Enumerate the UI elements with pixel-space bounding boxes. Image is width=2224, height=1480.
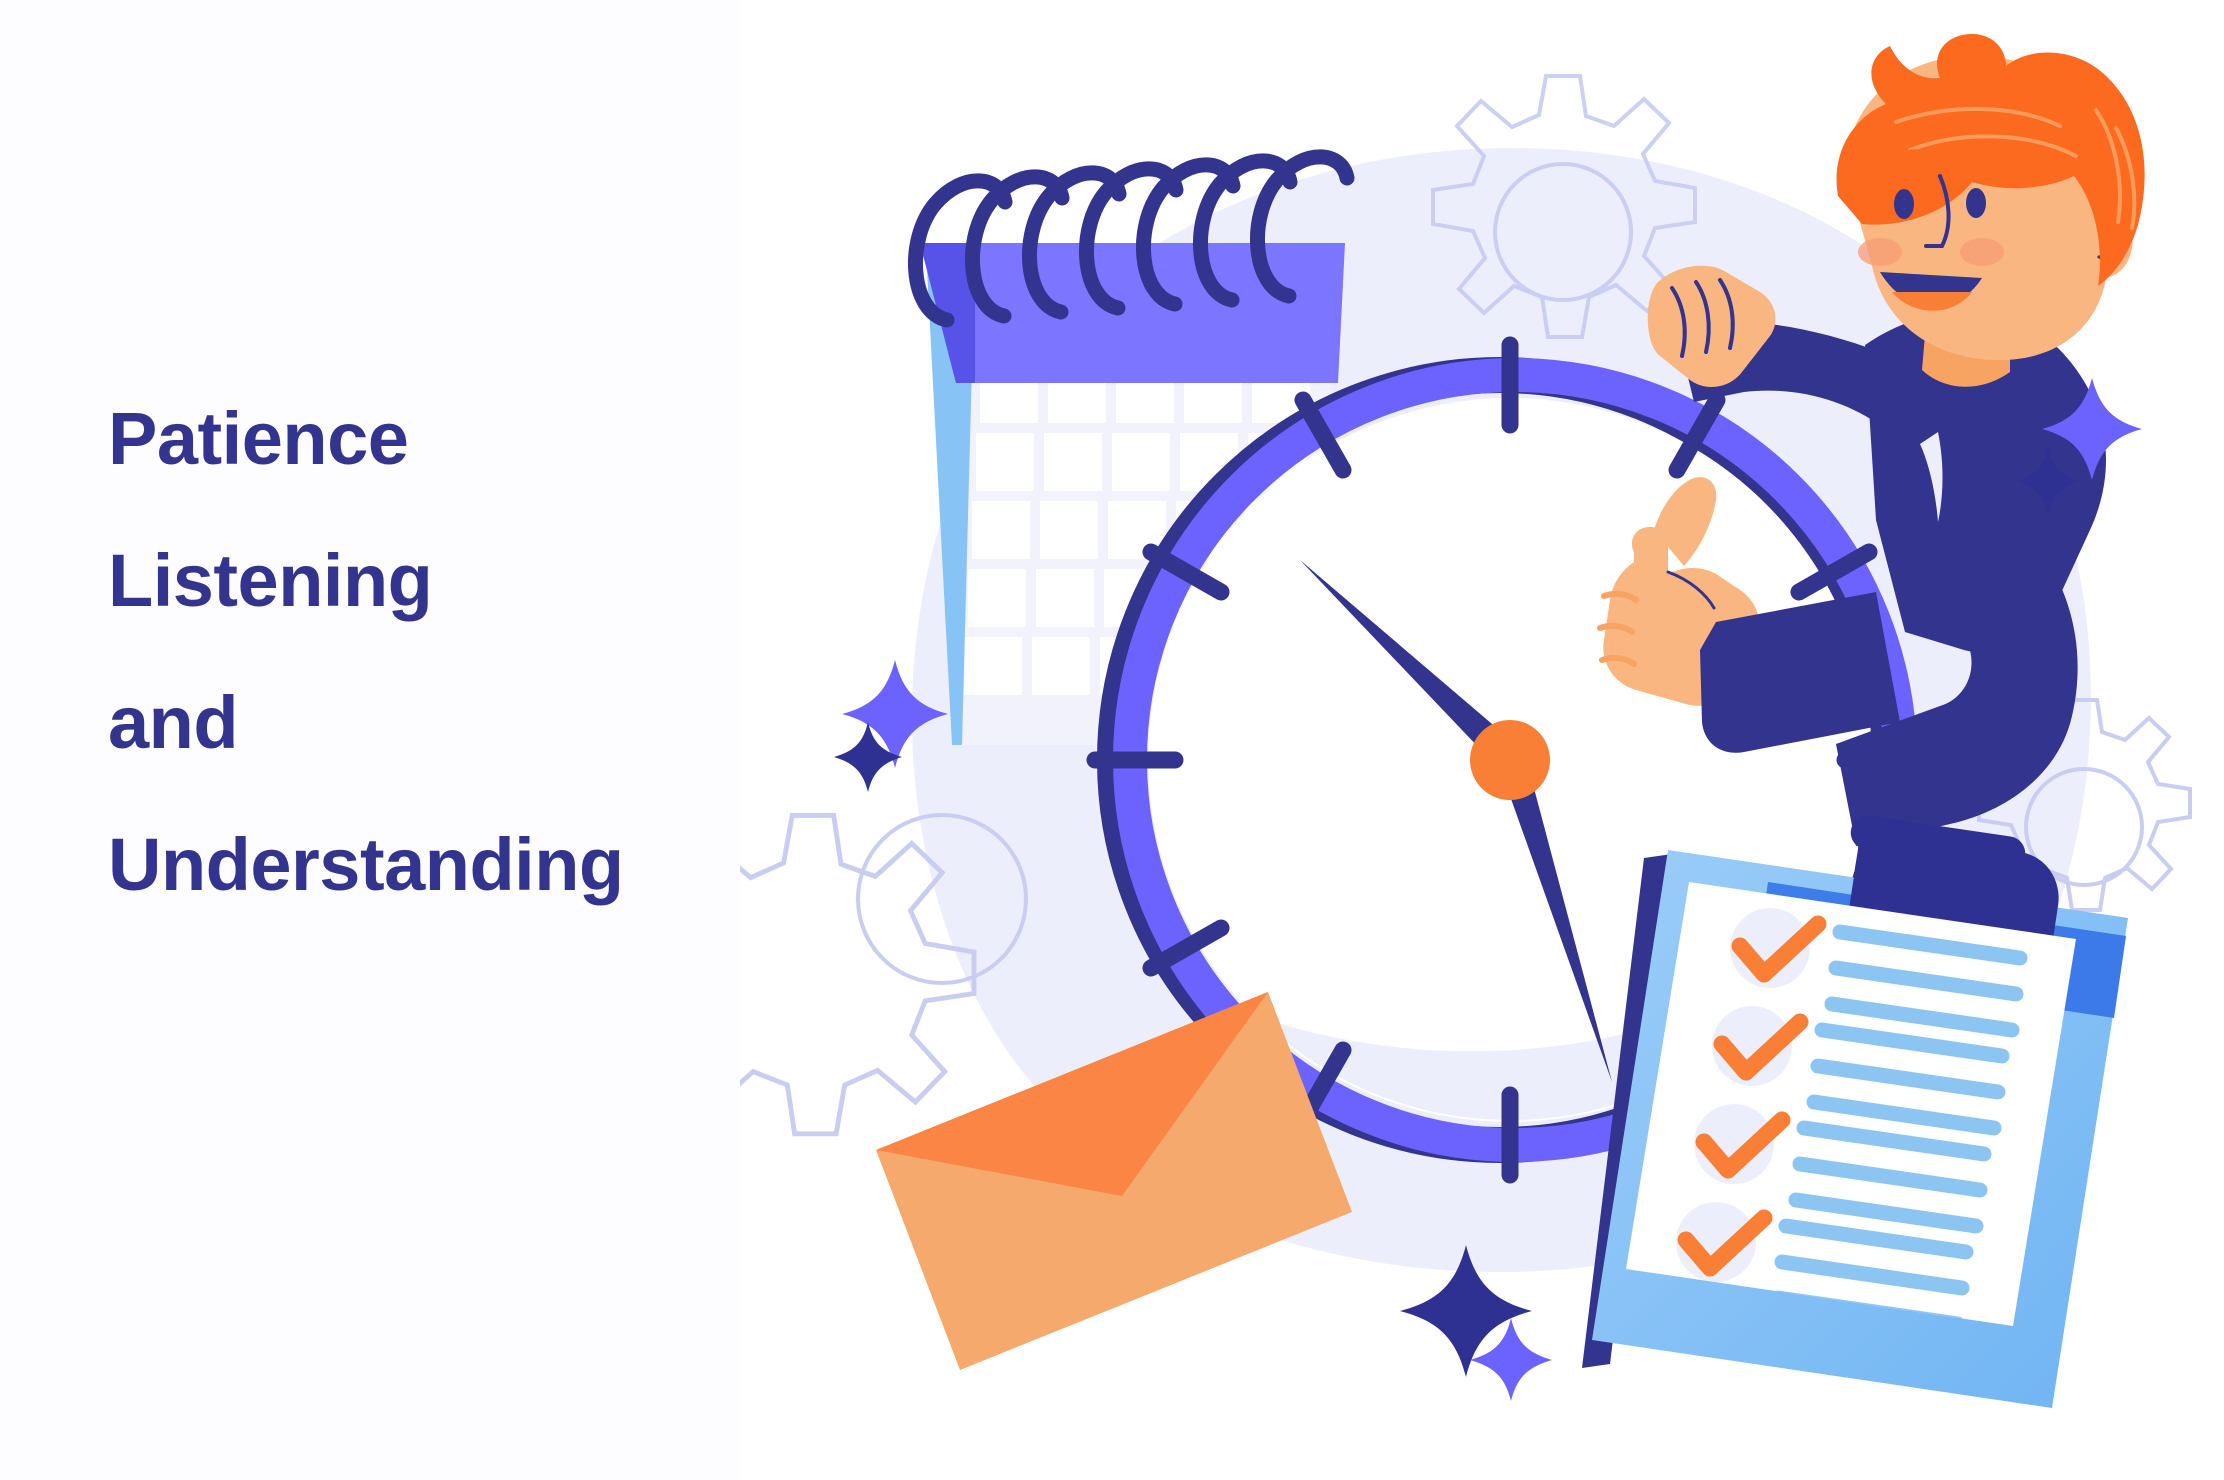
eye-left bbox=[1894, 189, 1914, 219]
headline-line-1: Patience bbox=[108, 368, 748, 510]
headline-line-4: Understanding bbox=[108, 794, 748, 936]
page-title: Patience Listening and Understanding bbox=[108, 368, 748, 936]
illustration-canvas: Patience Listening and Understanding bbox=[0, 0, 2224, 1480]
headline-line-2: Listening bbox=[108, 510, 748, 652]
clipboard bbox=[1582, 813, 2128, 1408]
eye-right bbox=[1966, 188, 1986, 218]
headline-line-3: and bbox=[108, 652, 748, 794]
clock-center-dot bbox=[1470, 720, 1550, 800]
headline-panel: Patience Listening and Understanding bbox=[0, 0, 740, 1480]
